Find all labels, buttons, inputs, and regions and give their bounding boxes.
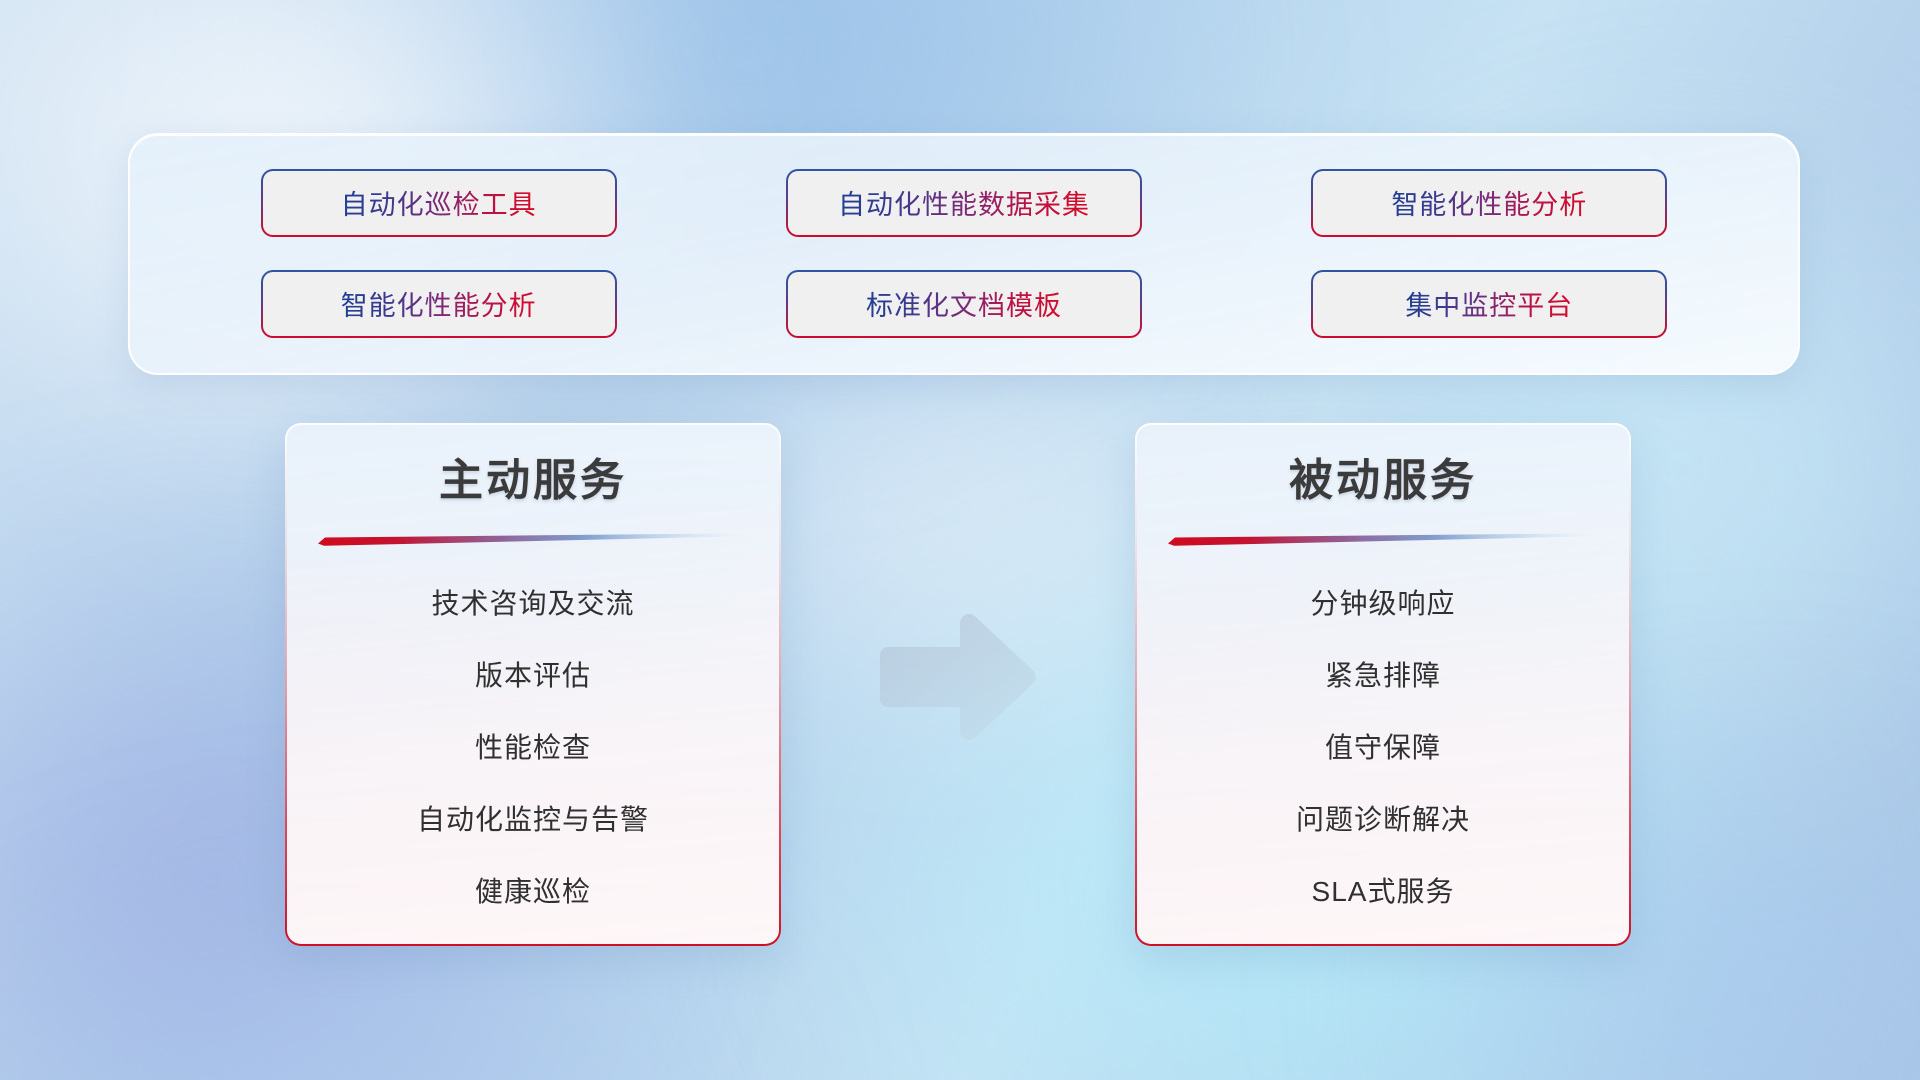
- capability-pill-3[interactable]: 智能化性能分析: [261, 270, 617, 338]
- capability-pill-label: 自动化巡检工具: [341, 183, 537, 222]
- card-list-item: 自动化监控与告警: [417, 784, 649, 856]
- card-list-item: 技术咨询及交流: [431, 568, 634, 640]
- card-divider: [1168, 532, 1598, 546]
- capability-pill-4[interactable]: 标准化文档模板: [786, 270, 1142, 338]
- capability-pill-label: 自动化性能数据采集: [838, 183, 1090, 222]
- capability-pill-body: 自动化巡检工具: [263, 171, 615, 235]
- card-divider: [318, 532, 748, 546]
- capability-pill-label: 标准化文档模板: [866, 284, 1062, 323]
- capability-pill-label: 智能化性能分析: [1391, 183, 1587, 222]
- card-list-item: SLA式服务: [1312, 856, 1455, 928]
- service-card-proactive: 主动服务 技术咨询及交流 版本评估 性能检查: [285, 423, 781, 946]
- card-title: 被动服务: [1289, 455, 1477, 508]
- service-card-body: 主动服务 技术咨询及交流 版本评估 性能检查: [287, 425, 779, 944]
- service-card-body: 被动服务 分钟级响应 紧急排障 值守保障: [1137, 425, 1629, 944]
- capability-pill-body: 标准化文档模板: [788, 272, 1140, 336]
- card-list-item: 健康巡检: [475, 856, 591, 928]
- card-list-item: 值守保障: [1325, 712, 1441, 784]
- capability-pill-5[interactable]: 集中监控平台: [1311, 270, 1667, 338]
- card-list-item: 分钟级响应: [1310, 568, 1455, 640]
- capability-pill-body: 自动化性能数据采集: [788, 171, 1140, 235]
- card-list-item: 问题诊断解决: [1296, 784, 1470, 856]
- arrow-right-icon: [874, 613, 1040, 741]
- card-list-item: 版本评估: [475, 640, 591, 712]
- capability-pill-body: 智能化性能分析: [263, 272, 615, 336]
- capability-pill-label: 集中监控平台: [1405, 284, 1573, 323]
- capability-pill-label: 智能化性能分析: [341, 284, 537, 323]
- capabilities-panel: 自动化巡检工具 自动化性能数据采集 智能化性能分析 智能化性能分析 标准化文档模…: [128, 133, 1800, 375]
- card-item-list: 分钟级响应 紧急排障 值守保障 问题诊断解决 SLA式服务: [1137, 568, 1629, 928]
- card-list-item: 紧急排障: [1325, 640, 1441, 712]
- capability-pill-2[interactable]: 智能化性能分析: [1311, 169, 1667, 237]
- card-list-item: 性能检查: [475, 712, 591, 784]
- capability-pill-body: 集中监控平台: [1313, 272, 1665, 336]
- service-card-reactive: 被动服务 分钟级响应 紧急排障 值守保障: [1135, 423, 1631, 946]
- card-item-list: 技术咨询及交流 版本评估 性能检查 自动化监控与告警 健康巡检: [287, 568, 779, 928]
- capability-pill-0[interactable]: 自动化巡检工具: [261, 169, 617, 237]
- card-title: 主动服务: [439, 455, 627, 508]
- capability-pill-body: 智能化性能分析: [1313, 171, 1665, 235]
- capability-pill-1[interactable]: 自动化性能数据采集: [786, 169, 1142, 237]
